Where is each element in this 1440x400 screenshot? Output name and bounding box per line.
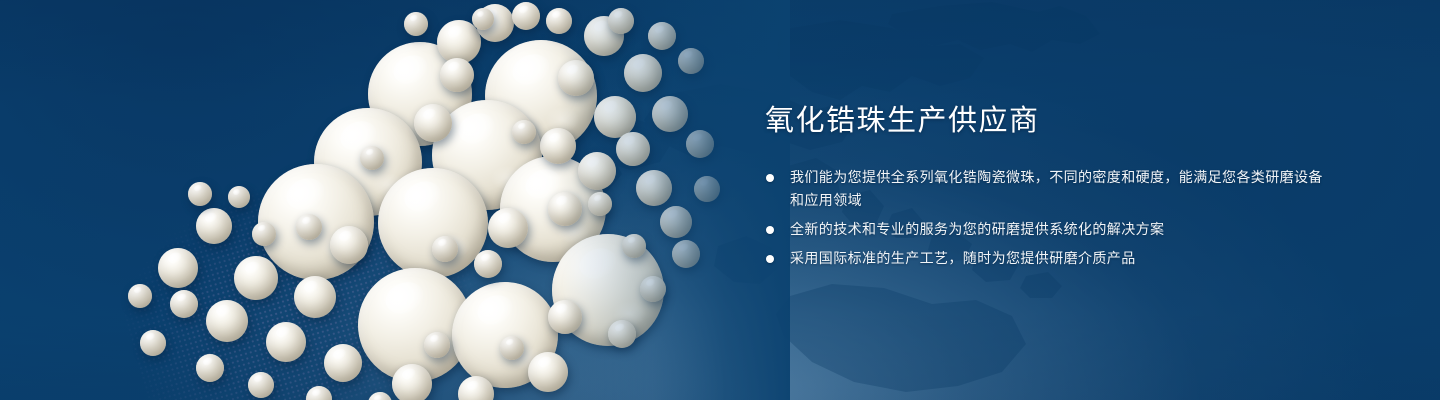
bead-small xyxy=(196,354,224,382)
list-item: 采用国际标准的生产工艺，随时为您提供研磨介质产品 xyxy=(763,247,1323,270)
bead-small xyxy=(306,386,332,400)
bead-small xyxy=(500,336,524,360)
bead-medium xyxy=(624,54,662,92)
bead-medium xyxy=(578,152,616,190)
bead-small xyxy=(368,392,392,400)
bullet-dot-icon xyxy=(766,226,774,234)
bead-small xyxy=(424,332,450,358)
bead-medium xyxy=(548,300,582,334)
bead-small xyxy=(228,186,250,208)
bead-medium xyxy=(540,128,576,164)
bead-medium xyxy=(558,60,594,96)
bead-medium xyxy=(158,248,198,288)
list-item-text: 全新的技术和专业的服务为您的研磨提供系统化的解决方案 xyxy=(790,221,1164,237)
bead-small xyxy=(686,130,714,158)
list-item: 全新的技术和专业的服务为您的研磨提供系统化的解决方案 xyxy=(763,218,1323,241)
banner-text-block: 氧化锆珠生产供应商 我们能为您提供全系列氧化锆陶瓷微珠，不同的密度和硬度，能满足… xyxy=(763,104,1323,270)
list-item-text: 采用国际标准的生产工艺，随时为您提供研磨介质产品 xyxy=(790,250,1136,266)
bead-medium xyxy=(414,104,452,142)
bead-small xyxy=(128,284,152,308)
hero-banner: 氧化锆珠生产供应商 我们能为您提供全系列氧化锆陶瓷微珠，不同的密度和硬度，能满足… xyxy=(0,0,1440,400)
bead-medium xyxy=(488,208,528,248)
bead-small xyxy=(170,290,198,318)
bead-medium xyxy=(294,276,336,318)
bead-small xyxy=(608,8,634,34)
bead-small xyxy=(360,146,384,170)
bead-medium xyxy=(392,364,432,400)
bead-small xyxy=(678,48,704,74)
bead-small xyxy=(622,234,646,258)
bead-small xyxy=(640,276,666,302)
bullet-dot-icon xyxy=(766,174,774,182)
list-item: 我们能为您提供全系列氧化锆陶瓷微珠，不同的密度和硬度，能满足您各类研磨设备和应用… xyxy=(763,166,1323,212)
bead-small xyxy=(512,120,536,144)
bead-small xyxy=(252,222,276,246)
bead-small xyxy=(404,12,428,36)
zirconia-beads-photo xyxy=(0,0,760,400)
bead-medium xyxy=(616,132,650,166)
bead-small xyxy=(248,372,274,398)
bead-small xyxy=(648,22,676,50)
list-item-text: 我们能为您提供全系列氧化锆陶瓷微珠，不同的密度和硬度，能满足您各类研磨设备和应用… xyxy=(790,169,1323,208)
bead-medium xyxy=(548,192,582,226)
bead-small xyxy=(608,320,636,348)
bead-medium xyxy=(528,352,568,392)
bead-small xyxy=(296,214,322,240)
bead-medium xyxy=(266,322,306,362)
bead-medium xyxy=(652,96,688,132)
bead-small xyxy=(432,236,458,262)
bead-small xyxy=(588,192,612,216)
bead-medium xyxy=(660,206,692,238)
bead-small xyxy=(472,8,494,30)
bead-medium xyxy=(330,226,368,264)
bead-small xyxy=(512,2,540,30)
bead-large xyxy=(378,168,488,278)
bead-medium xyxy=(206,300,248,342)
bead-small xyxy=(474,250,502,278)
bead-medium xyxy=(196,208,232,244)
bead-small xyxy=(694,176,720,202)
bead-medium xyxy=(234,256,278,300)
bead-small xyxy=(188,182,212,206)
bead-medium xyxy=(440,58,474,92)
banner-headline: 氧化锆珠生产供应商 xyxy=(765,104,1323,138)
bead-small xyxy=(546,8,572,34)
bullet-dot-icon xyxy=(766,255,774,263)
feature-list: 我们能为您提供全系列氧化锆陶瓷微珠，不同的密度和硬度，能满足您各类研磨设备和应用… xyxy=(763,166,1323,270)
bead-small xyxy=(140,330,166,356)
bead-medium xyxy=(636,170,672,206)
bead-medium xyxy=(324,344,362,382)
bead-small xyxy=(672,240,700,268)
